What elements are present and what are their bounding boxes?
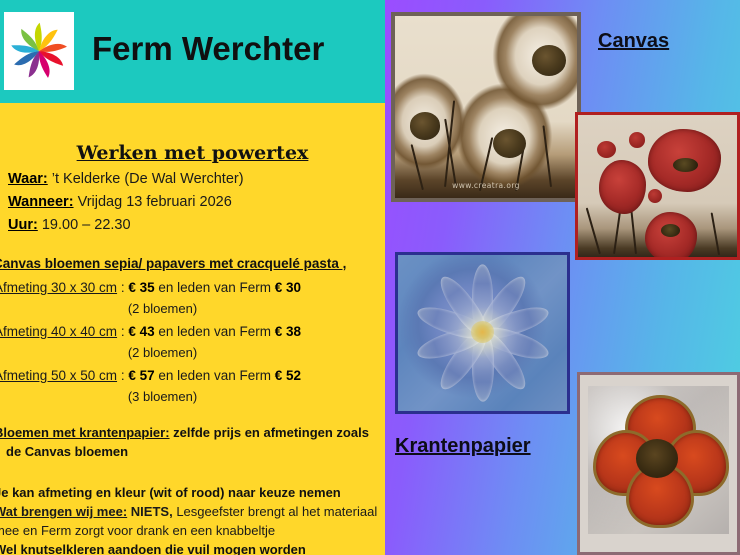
blue-artwork — [398, 255, 567, 411]
price-row-40-dimension: Afmeting 40 x 40 cm — [0, 324, 117, 339]
price-row-30-dimension: Afmeting 30 x 30 cm — [0, 280, 117, 295]
sepia-dandelion-canvas: www.creatra.org — [391, 12, 581, 202]
canvas-section-heading: Canvas bloemen sepia/ papavers met cracq… — [0, 256, 346, 271]
workshop-title: Werken met powertex — [0, 142, 385, 164]
price-row-40-sep: : — [121, 324, 125, 339]
meta-time-value: 19.00 – 22.30 — [42, 217, 131, 233]
flyer-left-panel: Ferm Werchter Werken met powertex Waar: … — [0, 0, 385, 555]
price-row-30-note: (2 bloemen) — [0, 301, 355, 316]
textured-mat — [588, 386, 729, 535]
bring-emphasis: NIETS, — [131, 504, 173, 519]
red-flower-krantenpapier-canvas — [577, 372, 740, 555]
seed-head — [410, 112, 441, 139]
price-row-50-mid: en leden van Ferm — [158, 368, 271, 383]
price-row-30-member-price: € 30 — [275, 280, 301, 295]
price-row-40-note: (2 bloemen) — [0, 345, 355, 360]
price-row-50-dimension: Afmeting 50 x 50 cm — [0, 368, 117, 383]
price-row-30-mid: en leden van Ferm — [158, 280, 271, 295]
bring-label: Wat brengen wij mee: — [0, 504, 127, 519]
pinwheel-icon — [4, 12, 74, 90]
bring-line: Wat brengen wij mee: NIETS, Lesgeefster … — [0, 504, 377, 519]
poppy-flower — [599, 160, 647, 214]
blue-mandala-flower-canvas — [395, 252, 570, 414]
poppy-flower — [645, 212, 697, 260]
price-row-50-sep: : — [121, 368, 125, 383]
seed-head — [532, 45, 567, 76]
organization-title: Ferm Werchter — [92, 30, 324, 68]
bring-line2: mee en Ferm zorgt voor drank en een knab… — [0, 523, 275, 538]
header-bar: Ferm Werchter — [0, 0, 385, 103]
flower-core — [471, 321, 495, 343]
closing-line: Wel knutselkleren aandoen die vuil mogen… — [0, 542, 306, 555]
bring-rest: Lesgeefster brengt al het materiaal — [176, 504, 377, 519]
price-row-40-price: € 43 — [128, 324, 154, 339]
price-row-50-member-price: € 52 — [275, 368, 301, 383]
seed-head — [493, 129, 526, 158]
paper-section-heading-rest: zelfde prijs en afmetingen zoals — [173, 425, 369, 440]
price-row-40-member-price: € 38 — [275, 324, 301, 339]
paper-section-line2: de Canvas bloemen — [6, 444, 128, 459]
paper-section-heading-label: Bloemen met krantenpapier: — [0, 425, 170, 440]
note-choice: Je kan afmeting en kleur (wit of rood) n… — [0, 485, 341, 500]
price-row-30-sep: : — [121, 280, 125, 295]
price-row-40-mid: en leden van Ferm — [158, 324, 271, 339]
caption-canvas: Canvas — [598, 30, 669, 53]
price-row-50-note: (3 bloemen) — [0, 389, 355, 404]
paper-section-heading: Bloemen met krantenpapier: zelfde prijs … — [0, 425, 369, 440]
flyer-page: Ferm Werchter Werken met powertex Waar: … — [0, 0, 740, 555]
meta-date-label: Wanneer: — [8, 194, 74, 210]
flyer-body: Werken met powertex Waar: ’t Kelderke (D… — [0, 103, 385, 555]
gallery-panel: www.creatra.org — [385, 0, 740, 555]
meta-time: Uur: 19.00 – 22.30 — [8, 217, 131, 233]
meta-time-label: Uur: — [8, 217, 38, 233]
meta-date-value: Vrijdag 13 februari 2026 — [78, 194, 232, 210]
poppy-bud — [597, 141, 616, 158]
meta-location-value: ’t Kelderke (De Wal Werchter) — [52, 171, 244, 187]
ferm-pinwheel-logo — [4, 12, 74, 90]
sepia-artwork: www.creatra.org — [395, 16, 577, 198]
red-poppies-canvas — [575, 112, 740, 260]
meta-date: Wanneer: Vrijdag 13 februari 2026 — [8, 194, 232, 210]
price-row-50: Afmeting 50 x 50 cm : € 57 en leden van … — [0, 368, 301, 383]
price-row-30: Afmeting 30 x 30 cm : € 35 en leden van … — [0, 280, 301, 295]
caption-krantenpapier: Krantenpapier — [395, 435, 531, 458]
poppy-flower — [648, 129, 721, 191]
price-row-50-price: € 57 — [128, 368, 154, 383]
red-flower-artwork — [580, 375, 737, 552]
price-row-40: Afmeting 40 x 40 cm : € 43 en leden van … — [0, 324, 301, 339]
poppy-bud — [648, 189, 662, 203]
meta-location: Waar: ’t Kelderke (De Wal Werchter) — [8, 171, 244, 187]
meta-location-label: Waar: — [8, 171, 48, 187]
price-row-30-price: € 35 — [128, 280, 154, 295]
creatra-watermark: www.creatra.org — [395, 181, 577, 190]
poppy-artwork — [578, 115, 737, 257]
poppy-bud — [629, 132, 645, 148]
